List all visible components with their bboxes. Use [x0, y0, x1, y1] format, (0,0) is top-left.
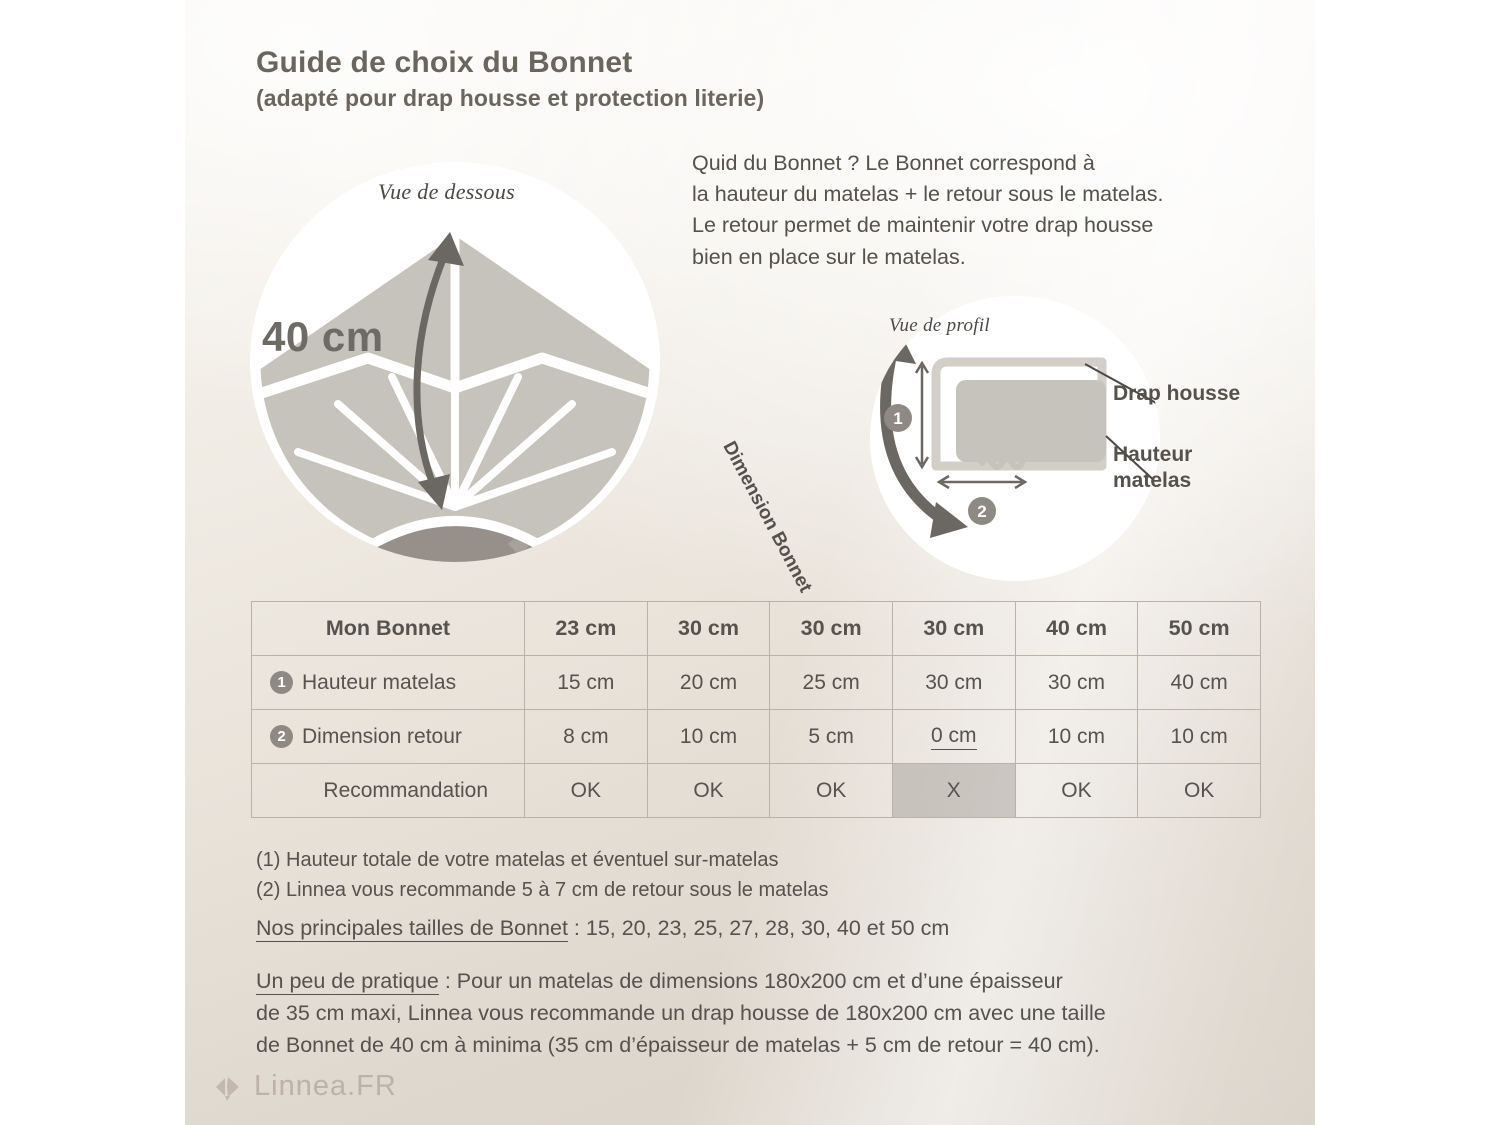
table-header-col-4: 40 cm — [1015, 602, 1138, 656]
svg-text:2: 2 — [977, 502, 986, 521]
table-header-label: Mon Bonnet — [252, 602, 525, 656]
svg-text:1: 1 — [893, 409, 902, 428]
table-cell-retour-4: 10 cm — [1015, 710, 1138, 764]
callout-hauteur-matelas: Hauteur matelas — [1113, 442, 1192, 495]
practice-line-2: de 35 cm maxi, Linnea vous recommande un… — [256, 998, 1256, 1030]
intro-line-4: bien en place sur le matelas. — [692, 242, 1267, 273]
table-cell-retour-1: 10 cm — [647, 710, 770, 764]
callout-drap-housse: Drap housse — [1113, 382, 1240, 406]
bonnet-spec-table: Mon Bonnet 23 cm 30 cm 30 cm 30 cm 40 cm… — [251, 601, 1261, 818]
table-row-label-retour-text: Dimension retour — [302, 725, 462, 749]
table-cell-reco-1: OK — [647, 764, 770, 818]
table-cell-retour-2: 5 cm — [770, 710, 893, 764]
diagram-profile-view: 1 2 — [870, 296, 1160, 581]
intro-line-1: Quid du Bonnet ? Le Bonnet correspond à — [692, 148, 1267, 179]
badge-1-icon: 1 — [270, 671, 293, 694]
table-cell-retour-3-value: 0 cm — [931, 724, 977, 750]
table-cell-retour-0: 8 cm — [525, 710, 648, 764]
table-cell-hauteur-3: 30 cm — [892, 656, 1015, 710]
callout-hauteur-line-1: Hauteur — [1113, 442, 1192, 468]
practice-line-1-text: : Pour un matelas de dimensions 180x200 … — [439, 969, 1063, 993]
table-header-col-3: 30 cm — [892, 602, 1015, 656]
principal-sizes-line: Nos principales tailles de Bonnet : 15, … — [256, 916, 949, 941]
table-cell-hauteur-4: 30 cm — [1015, 656, 1138, 710]
badge-2-profile: 2 — [968, 497, 996, 525]
table-row-recommandation: Recommandation OK OK OK X OK OK — [252, 764, 1261, 818]
practice-block: Un peu de pratique : Pour un matelas de … — [256, 966, 1256, 1061]
bottom-view-caption: Vue de dessous — [378, 179, 515, 205]
callout-hauteur-line-2: matelas — [1113, 468, 1192, 494]
table-row-header: Mon Bonnet 23 cm 30 cm 30 cm 30 cm 40 cm… — [252, 602, 1261, 656]
intro-paragraph: Quid du Bonnet ? Le Bonnet correspond à … — [692, 148, 1267, 273]
intro-line-3: Le retour permet de maintenir votre drap… — [692, 210, 1267, 241]
principal-sizes-label: Nos principales tailles de Bonnet — [256, 916, 568, 942]
page-subtitle: (adapté pour drap housse et protection l… — [256, 84, 1156, 113]
table-cell-hauteur-2: 25 cm — [770, 656, 893, 710]
principal-sizes-value: : 15, 20, 23, 25, 27, 28, 30, 40 et 50 c… — [568, 916, 949, 940]
diamond-logo-icon — [214, 1072, 244, 1102]
table-cell-reco-0: OK — [525, 764, 648, 818]
bonnet-height-label: 40 cm — [262, 313, 384, 361]
table-header-col-0: 23 cm — [525, 602, 648, 656]
footnote-1: (1) Hauteur totale de votre matelas et é… — [256, 846, 829, 876]
footnote-2: (2) Linnea vous recommande 5 à 7 cm de r… — [256, 876, 829, 906]
intro-line-2: la hauteur du matelas + le retour sous l… — [692, 179, 1267, 210]
table-header-col-1: 30 cm — [647, 602, 770, 656]
brand-logo-text: Linnea.FR — [254, 1070, 397, 1103]
table-cell-reco-2: OK — [770, 764, 893, 818]
badge-1-profile: 1 — [884, 404, 912, 432]
table-cell-hauteur-1: 20 cm — [647, 656, 770, 710]
brand-logo[interactable]: Linnea.FR — [214, 1070, 397, 1103]
profile-view-caption: Vue de profil — [889, 315, 990, 337]
table-header-col-5: 50 cm — [1138, 602, 1261, 656]
dimension-arrow-horizontal-icon — [939, 476, 1025, 488]
page-title: Guide de choix du Bonnet — [256, 46, 1156, 80]
practice-label: Un peu de pratique — [256, 969, 439, 995]
footnotes: (1) Hauteur totale de votre matelas et é… — [256, 846, 829, 905]
table-row-hauteur-matelas: 1 Hauteur matelas 15 cm 20 cm 25 cm 30 c… — [252, 656, 1261, 710]
table-header-col-2: 30 cm — [770, 602, 893, 656]
dimension-arrow-vertical-icon — [916, 363, 928, 467]
practice-line-1: Un peu de pratique : Pour un matelas de … — [256, 966, 1256, 998]
table-row-label-retour: 2 Dimension retour — [252, 710, 525, 764]
table-cell-reco-3: X — [892, 764, 1015, 818]
page-title-block: Guide de choix du Bonnet (adapté pour dr… — [256, 46, 1156, 112]
table-row-label-hauteur-text: Hauteur matelas — [302, 671, 456, 695]
table-row-label-recommandation-text: Recommandation — [323, 779, 488, 803]
table-cell-retour-3: 0 cm — [892, 710, 1015, 764]
infographic-root: Guide de choix du Bonnet (adapté pour dr… — [0, 0, 1500, 1125]
badge-2-icon: 2 — [270, 725, 293, 748]
table-cell-hauteur-0: 15 cm — [525, 656, 648, 710]
table-row-label-recommandation: Recommandation — [252, 764, 525, 818]
table-cell-retour-5: 10 cm — [1138, 710, 1261, 764]
table-cell-reco-5: OK — [1138, 764, 1261, 818]
diagram-bottom-view — [250, 162, 660, 562]
table-row-label-hauteur: 1 Hauteur matelas — [252, 656, 525, 710]
profile-view-illustration: 1 2 — [870, 296, 1160, 581]
practice-line-3: de Bonnet de 40 cm à minima (35 cm d’épa… — [256, 1030, 1256, 1062]
table-cell-reco-4: OK — [1015, 764, 1138, 818]
table-cell-hauteur-5: 40 cm — [1138, 656, 1261, 710]
table-row-dimension-retour: 2 Dimension retour 8 cm 10 cm 5 cm 0 cm … — [252, 710, 1261, 764]
bottom-view-illustration — [250, 162, 660, 562]
